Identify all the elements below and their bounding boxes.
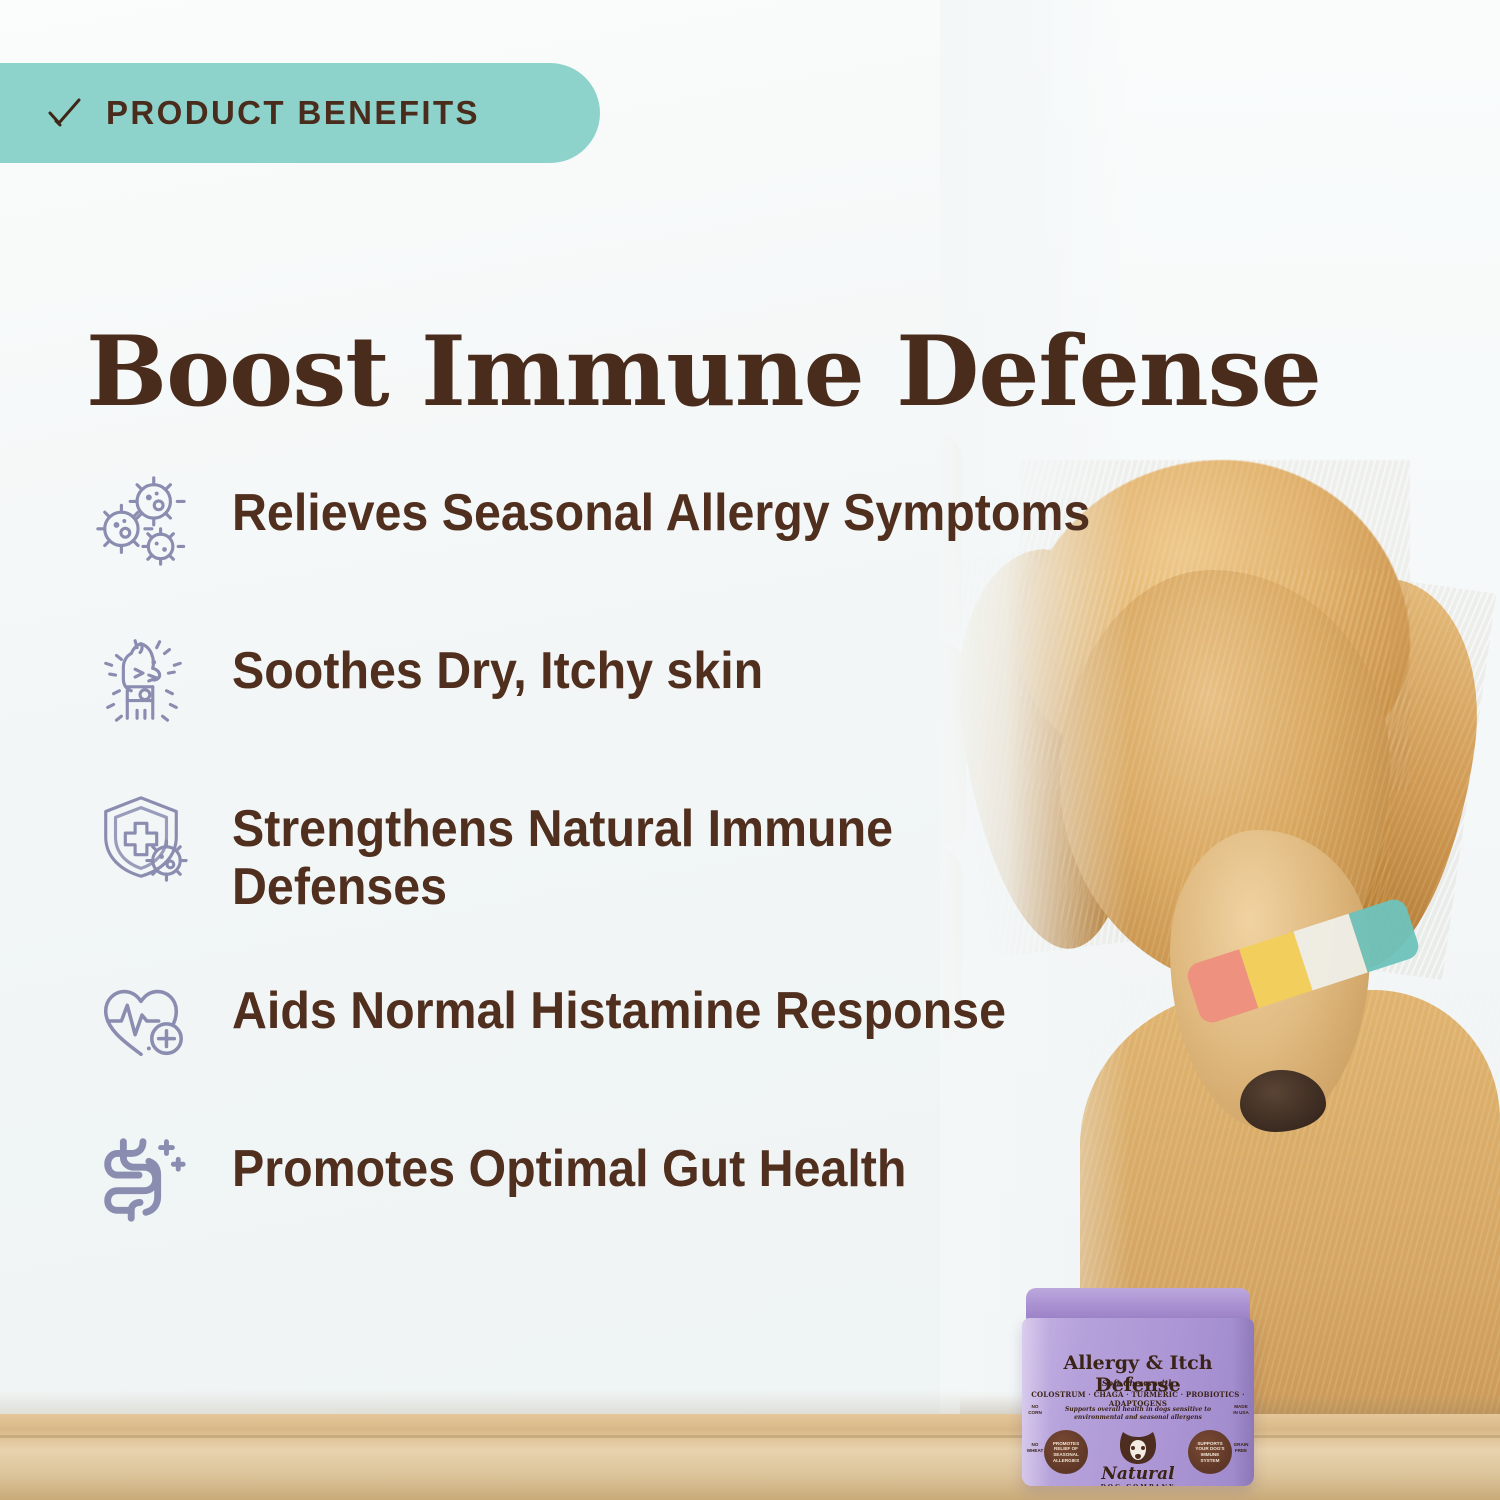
product-description: Supports overall health in dogs sensitiv… — [1044, 1406, 1232, 1422]
marketing-graphic: PRODUCT BENEFITS Boost Immune Defense — [0, 0, 1500, 1500]
check-icon — [44, 93, 84, 133]
brand-dog-face-icon — [1115, 1428, 1161, 1468]
page-title: Boost Immune Defense — [86, 322, 1416, 422]
itchy-dog-icon — [86, 624, 196, 734]
benefit-label: Relieves Seasonal Allergy Symptoms — [232, 466, 1090, 542]
allergen-particles-icon — [86, 466, 196, 576]
benefit-label: Soothes Dry, Itchy skin — [232, 624, 763, 700]
brand-name: Natural — [1022, 1464, 1254, 1484]
benefit-item: Relieves Seasonal Allergy Symptoms — [86, 466, 1266, 576]
side-icon-no-corn: NO CORN — [1026, 1404, 1044, 1415]
benefit-label: Aids Normal Histamine Response — [232, 964, 1006, 1040]
benefit-item: Promotes Optimal Gut Health — [86, 1122, 1266, 1232]
badge-label: PRODUCT BENEFITS — [106, 94, 480, 132]
benefit-item: Soothes Dry, Itchy skin — [86, 624, 1266, 734]
benefit-label: Strengthens Natural Immune Defenses — [232, 782, 893, 916]
heart-pulse-icon — [86, 964, 196, 1074]
floor-ambient-shadow — [0, 1390, 1500, 1414]
product-subtitle: Soft Chews with — [1022, 1378, 1254, 1388]
jar-lid — [1026, 1288, 1250, 1322]
benefit-item: Strengthens Natural Immune Defenses — [86, 782, 1266, 916]
shield-immune-icon — [86, 782, 196, 892]
benefit-label: Promotes Optimal Gut Health — [232, 1122, 906, 1198]
wood-floor — [0, 1414, 1500, 1500]
side-icon-no-wheat: NO WHEAT — [1026, 1442, 1044, 1453]
floor-edge-line — [0, 1435, 1500, 1438]
jar-label: Allergy & Itch Defense Soft Chews with C… — [1022, 1318, 1254, 1486]
product-benefits-badge: PRODUCT BENEFITS — [0, 63, 600, 163]
benefit-item: Aids Normal Histamine Response — [86, 964, 1266, 1074]
side-icon-made-in-usa: MADE IN USA — [1232, 1404, 1250, 1415]
benefits-list: Relieves Seasonal Allergy Symptoms — [86, 466, 1266, 1280]
gut-health-icon — [86, 1122, 196, 1232]
side-icon-grain-free: GRAIN FREE — [1232, 1442, 1250, 1453]
product-jar[interactable]: Allergy & Itch Defense Soft Chews with C… — [1022, 1288, 1254, 1486]
